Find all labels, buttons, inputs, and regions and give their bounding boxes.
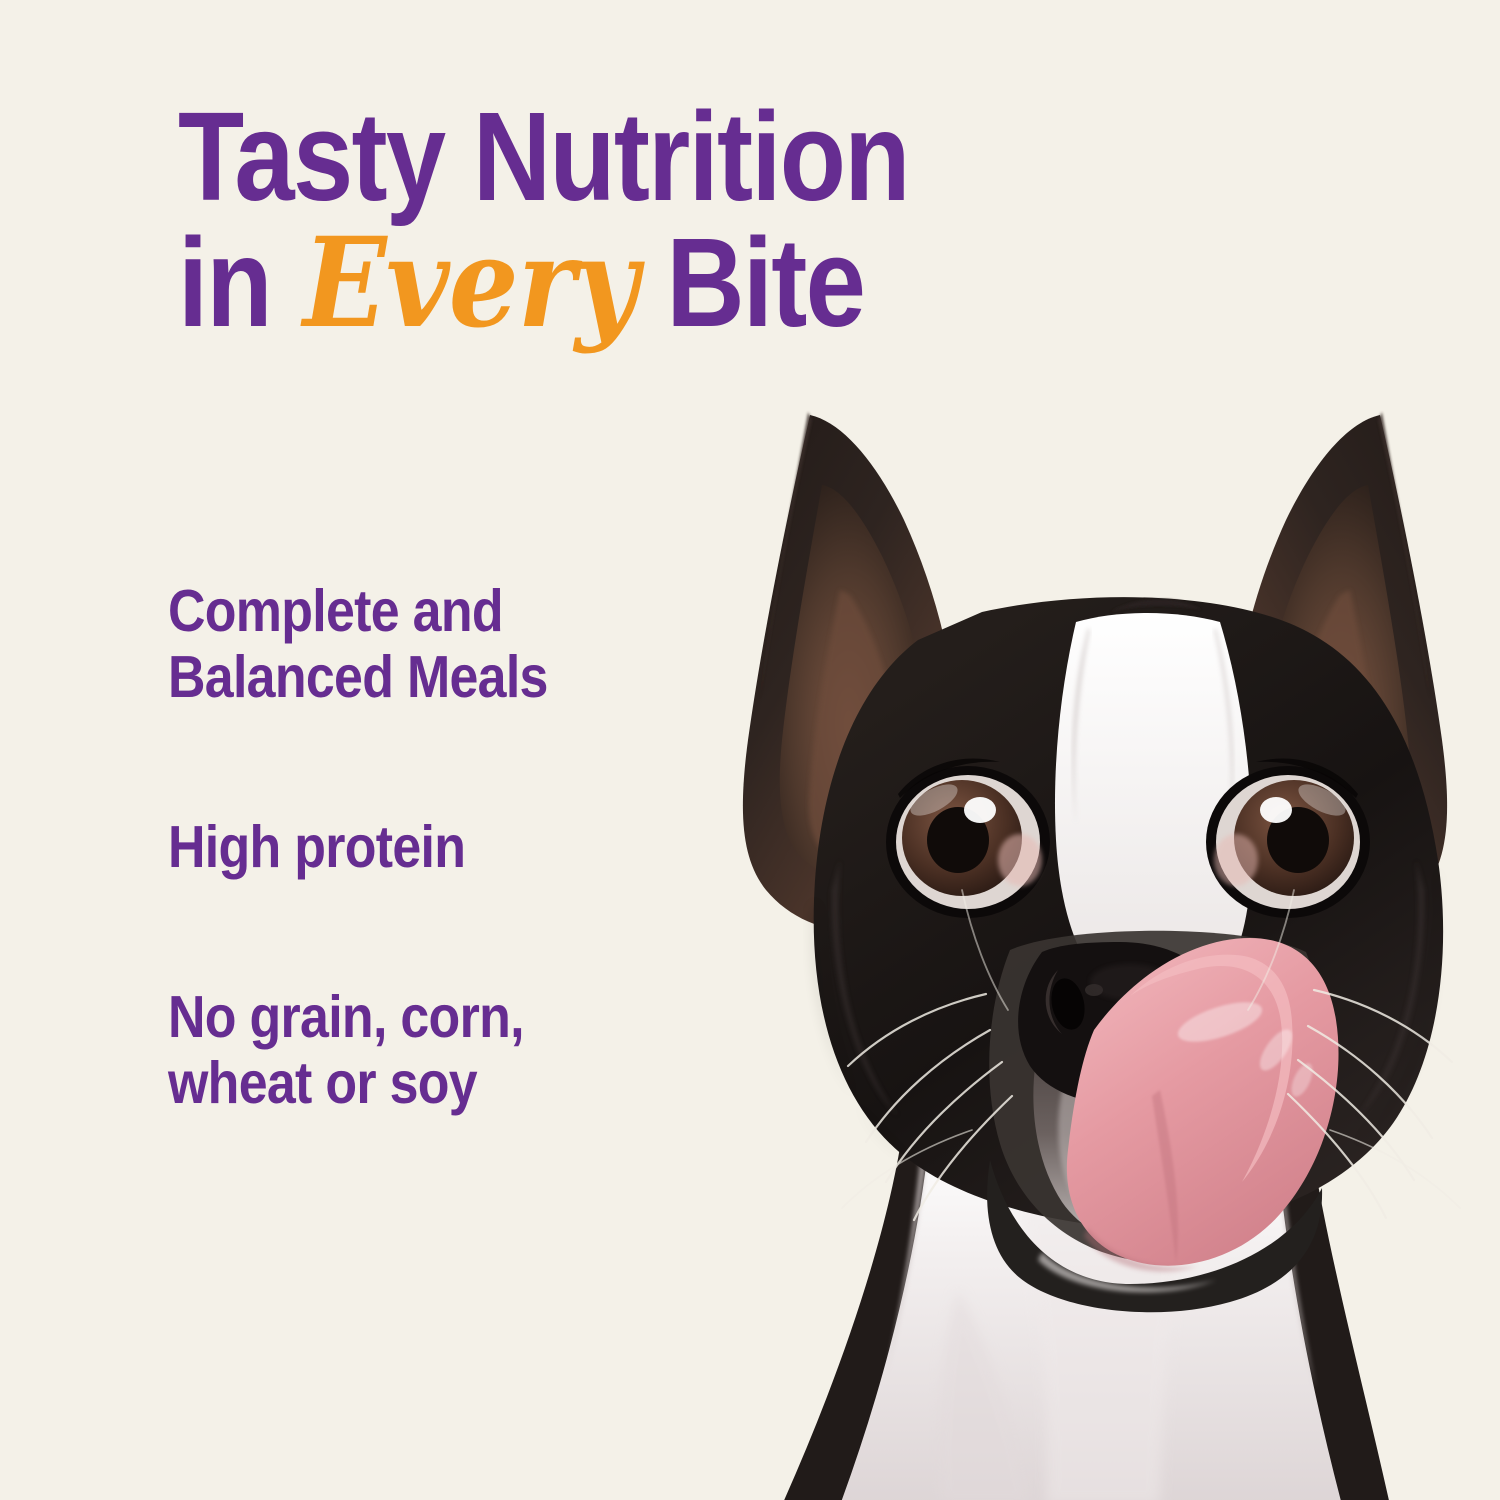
benefit-item-complete-balanced: Complete and Balanced Meals [168,578,661,710]
benefit-item-no-grain: No grain, corn, wheat or soy [168,984,661,1116]
feature-banner: Tasty Nutrition in Every Bite Complete a… [0,0,1500,1500]
benefit-item-high-protein: High protein [168,814,661,880]
headline: Tasty Nutrition in Every Bite [178,96,1318,345]
headline-emphasis-word: Every [294,223,643,345]
benefit-list: Complete and Balanced Meals High protein… [168,578,728,1116]
headline-line-2: in Every Bite [178,222,1158,345]
dog-photo [690,390,1500,1500]
headline-line-1: Tasty Nutrition [178,96,1158,218]
headline-line2-prefix: in [178,212,299,353]
headline-line2-suffix: Bite [638,212,864,353]
